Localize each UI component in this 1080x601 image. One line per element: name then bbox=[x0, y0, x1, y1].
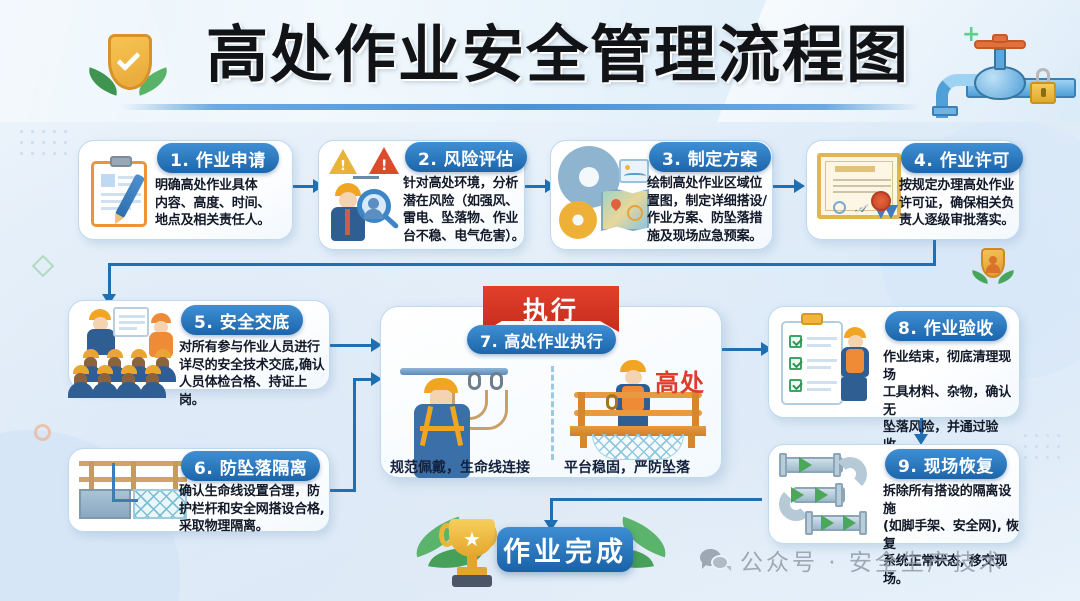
step-badge-2: 2. 风险评估 bbox=[405, 142, 527, 172]
step-badge-8: 8. 作业验收 bbox=[885, 311, 1007, 341]
step-badge-4: 4. 作业许可 bbox=[901, 143, 1023, 173]
execution-left-caption: 规范佩戴，生命线连接 bbox=[390, 457, 530, 477]
watermark-text: 公众号 · 安全生产技术 bbox=[740, 543, 1005, 577]
step-desc-5: 对所有参与作业人员进行 详尽的安全技术交底,确认 人员体检合格、持证上岗。 bbox=[179, 339, 331, 409]
connector-3-to-4 bbox=[773, 185, 796, 188]
step-badge-9: 9. 现场恢复 bbox=[885, 449, 1007, 479]
arrow-3-to-4 bbox=[794, 179, 805, 193]
connector-4-to-5-horizontal bbox=[108, 263, 936, 266]
connector-6-up bbox=[353, 378, 356, 491]
connector-9-left bbox=[550, 498, 762, 501]
step-desc-3: 绘制高处作业区域位 置图，制定详细搭设/ 作业方案、防坠落措 施及现场应急预案。 bbox=[647, 175, 771, 245]
safety-briefing-icon bbox=[77, 305, 183, 389]
title-underline bbox=[120, 104, 920, 110]
step-desc-6: 确认生命线设置合理，防 护栏杆和安全网搭设合格, 采取物理隔离。 bbox=[179, 483, 331, 536]
risk-inspector-icon: ! ! bbox=[327, 145, 405, 241]
step-badge-1: 1. 作业申请 bbox=[157, 143, 279, 173]
valve-lock-icon bbox=[930, 30, 1070, 116]
decor-ring-left bbox=[34, 424, 51, 441]
gears-map-icon bbox=[557, 147, 649, 243]
step-badge-3: 3. 制定方案 bbox=[649, 142, 771, 172]
flowchart-page: 高处作业安全管理流程图 + bbox=[0, 0, 1080, 601]
step-desc-1: 明确高处作业具体 内容、高度、时间、 地点及相关责任人。 bbox=[155, 177, 287, 230]
watermark: 公众号 · 安全生产技术 bbox=[700, 543, 1005, 577]
finish-badge[interactable]: 作业完成 bbox=[497, 527, 633, 572]
step-badge-5: 5. 安全交底 bbox=[181, 305, 303, 335]
step-card-5[interactable]: 5. 安全交底 对所有参与作业人员进行 详尽的安全技术交底,确认 人员体检合格、… bbox=[68, 300, 330, 390]
step-badge-6: 6. 防坠落隔离 bbox=[181, 451, 320, 481]
step-card-9[interactable]: 9. 现场恢复 拆除所有搭设的隔离设施 (如脚手架、安全网), 恢复 系统正常状… bbox=[768, 444, 1020, 544]
guardrail-net-icon bbox=[79, 457, 189, 525]
step-card-1[interactable]: 1. 作业申请 明确高处作业具体 内容、高度、时间、 地点及相关责任人。 bbox=[78, 140, 293, 240]
connector-2-to-3 bbox=[525, 185, 547, 188]
shield-check-icon bbox=[90, 30, 170, 110]
decor-shield-icon bbox=[975, 248, 1011, 288]
certificate-icon: 𝒜 bbox=[817, 153, 901, 223]
clipboard-pen-icon bbox=[91, 155, 153, 227]
decor-dot-grid-left bbox=[16, 126, 68, 160]
connector-down-to-5 bbox=[108, 263, 111, 296]
step-desc-4: 按规定办理高处作业 许可证，确保相关负 责人逐级审批落实。 bbox=[899, 177, 1021, 230]
step-card-4[interactable]: 𝒜 4. 作业许可 按规定办理高处作业 许可证，确保相关负 责人逐级审批落实。 bbox=[806, 140, 1020, 240]
connector-4-down bbox=[933, 240, 936, 265]
wechat-icon bbox=[700, 549, 730, 571]
page-title: 高处作业安全管理流程图 bbox=[206, 20, 910, 90]
execution-divider bbox=[551, 366, 554, 460]
step-desc-2: 针对高处环境，分析 潜在风险（如强风、 雷电、坠落物、作业 台不稳、电气危害）。 bbox=[403, 175, 527, 245]
step-card-2[interactable]: ! ! 2. 风险评估 针对高处环境，分析 潜在风险（如强风、 雷电、坠落物、作… bbox=[318, 140, 525, 250]
step-card-8[interactable]: 8. 作业验收 作业结束，彻底清理现场 工具材料、杂物，确认无 坠落风险，并通过… bbox=[768, 306, 1020, 418]
step-desc-8: 作业结束，彻底清理现场 工具材料、杂物，确认无 坠落风险，并通过验收。 bbox=[883, 349, 1023, 454]
page-header: 高处作业安全管理流程图 + bbox=[0, 0, 1080, 122]
decor-dot-grid-right bbox=[1020, 430, 1068, 464]
harness-worker-icon bbox=[400, 360, 540, 452]
execution-highlight-label: 高处 bbox=[655, 363, 705, 398]
checklist-acceptance-icon bbox=[777, 313, 881, 413]
connector-1-to-2 bbox=[293, 185, 315, 188]
step-badge-7: 7. 高处作业执行 bbox=[467, 325, 616, 354]
step-card-6[interactable]: 6. 防坠落隔离 确认生命线设置合理，防 护栏杆和安全网搭设合格, 采取物理隔离… bbox=[68, 448, 330, 532]
step-card-3[interactable]: 3. 制定方案 绘制高处作业区域位 置图，制定详细搭设/ 作业方案、防坠落措 施… bbox=[550, 140, 773, 250]
pipe-restore-icon bbox=[777, 451, 885, 539]
decor-diamond-left bbox=[32, 255, 55, 278]
execution-right-caption: 平台稳固，严防坠落 bbox=[564, 457, 690, 477]
